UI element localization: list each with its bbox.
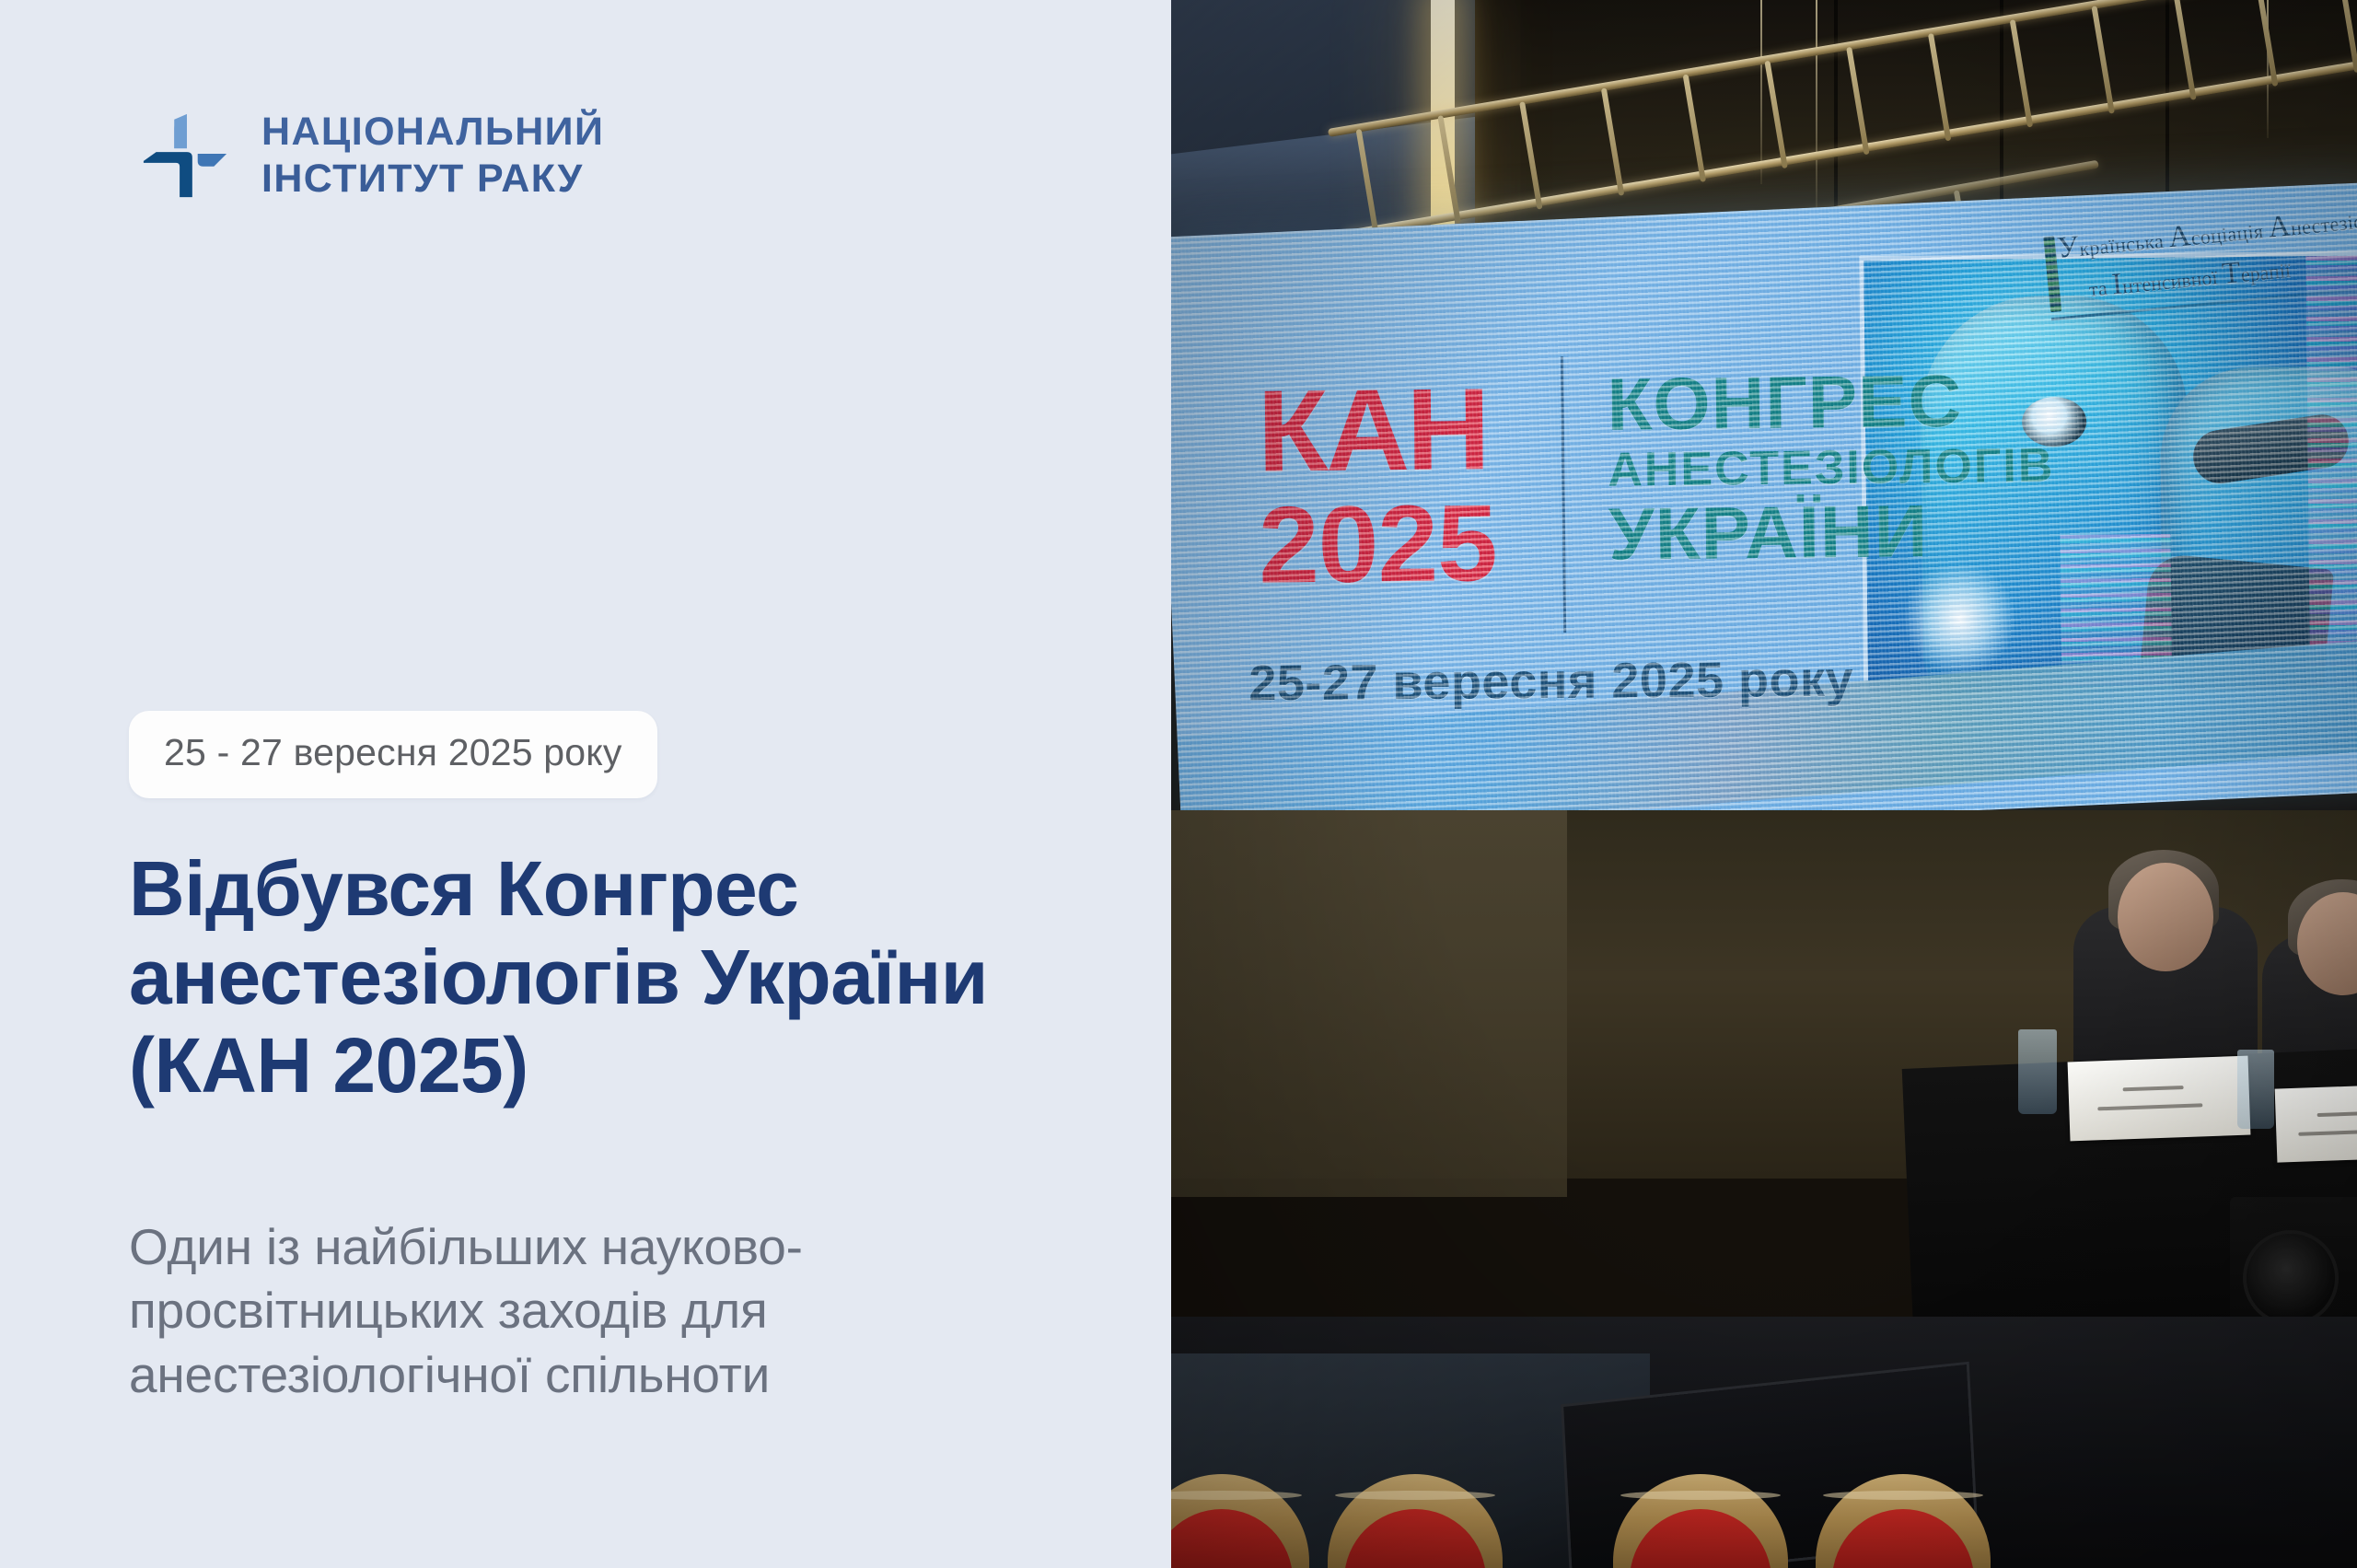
page-title: Відбувся Конгрес анестезіологів України … bbox=[129, 845, 1086, 1109]
nameplate-right bbox=[2275, 1084, 2357, 1162]
congress-dates: 25-27 вересня 2025 року bbox=[1248, 651, 1853, 713]
brand-name: НАЦІОНАЛЬНИЙ ІНСТИТУТ РАКУ bbox=[261, 109, 604, 202]
stage-wall-lit bbox=[1171, 810, 1567, 1197]
date-badge: 25 - 27 вересня 2025 року bbox=[129, 711, 657, 798]
congress-title-line-1: КОНГРЕС bbox=[1607, 363, 2054, 443]
congress-title-line-3: УКРАЇНИ bbox=[1608, 492, 2056, 572]
conference-hall-photo: Українська Асоціація Анестезіологів та І… bbox=[1171, 0, 2357, 1568]
nameplate-left bbox=[2068, 1056, 2251, 1142]
date-badge-label: 25 - 27 вересня 2025 року bbox=[164, 731, 622, 773]
brand-line-2: ІНСТИТУТ РАКУ bbox=[261, 156, 604, 203]
brand-line-1: НАЦІОНАЛЬНИЙ bbox=[261, 109, 604, 156]
congress-title: КОНГРЕС АНЕСТЕЗІОЛОГІВ УКРАЇНИ bbox=[1607, 363, 2055, 572]
water-glass-left bbox=[2018, 1029, 2057, 1114]
congress-logo: КАН 2025 КОНГРЕС АНЕСТЕЗІОЛОГІВ УКРАЇНИ bbox=[1257, 374, 1497, 597]
brand-lockup[interactable]: НАЦІОНАЛЬНИЙ ІНСТИТУТ РАКУ bbox=[140, 109, 604, 202]
page-subtitle: Один із найбільших науково-просвітницьки… bbox=[129, 1215, 1086, 1407]
congress-logo-divider bbox=[1561, 356, 1566, 633]
congress-abbrev: КАН 2025 bbox=[1257, 374, 1497, 597]
cross-mark-icon bbox=[140, 110, 230, 201]
led-stage-screen: Українська Асоціація Анестезіологів та І… bbox=[1171, 181, 2357, 846]
congress-title-line-2: АНЕСТЕЗІОЛОГІВ bbox=[1608, 441, 2055, 494]
congress-year: 2025 bbox=[1259, 492, 1498, 598]
association-lockup: Українська Асоціація Анестезіологів та І… bbox=[2056, 203, 2357, 308]
water-glass-right bbox=[2237, 1050, 2274, 1129]
article-hero-card: НАЦІОНАЛЬНИЙ ІНСТИТУТ РАКУ 25 - 27 верес… bbox=[0, 0, 2357, 1568]
text-panel: НАЦІОНАЛЬНИЙ ІНСТИТУТ РАКУ 25 - 27 верес… bbox=[0, 0, 1171, 1568]
